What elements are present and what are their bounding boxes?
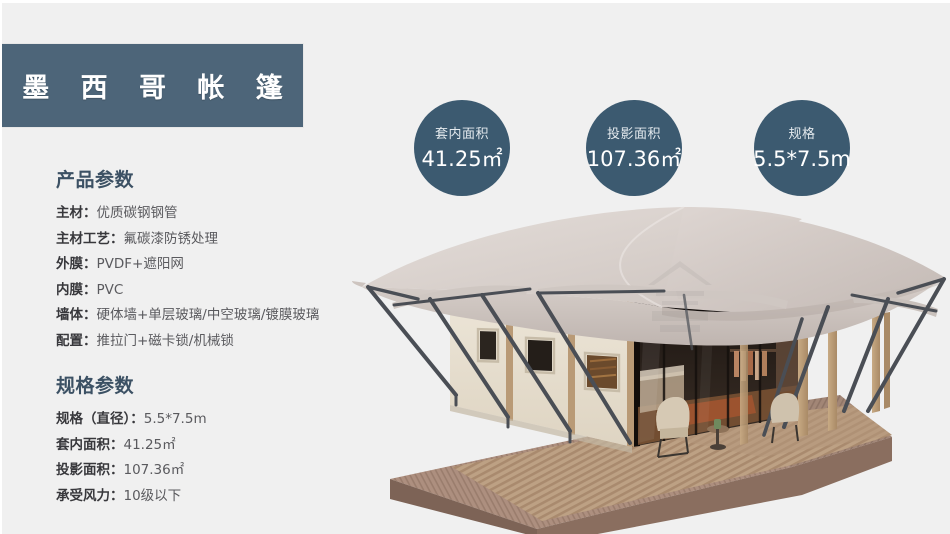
spec-parameters-block: 规格参数 规格（直径）：5.5*7.5m 套内面积：41.25㎡ 投影面积：10… xyxy=(56,371,356,509)
badge-value: 5.5*7.5m xyxy=(753,146,851,172)
spec-value: 氟碳漆防锈处理 xyxy=(124,231,219,247)
spec-label: 内膜： xyxy=(56,282,97,298)
page-title: 墨 西 哥 帐 篷 xyxy=(11,66,294,105)
product-parameters-heading: 产品参数 xyxy=(56,165,356,192)
spec-row: 内膜：PVC xyxy=(56,278,356,304)
badge-unit: ㎡ xyxy=(482,147,503,171)
product-parameters-block: 产品参数 主材：优质碳钢钢管 主材工艺：氟碳漆防锈处理 外膜：PVDF+遮阳网 … xyxy=(56,165,356,354)
spec-row: 墙体：硬体墙+单层玻璃/中空玻璃/镀膜玻璃 xyxy=(56,303,356,329)
spec-value: 推拉门+磁卡锁/机械锁 xyxy=(97,333,234,349)
spec-label: 主材： xyxy=(56,205,97,221)
product-parameters-list: 主材：优质碳钢钢管 主材工艺：氟碳漆防锈处理 外膜：PVDF+遮阳网 内膜：PV… xyxy=(56,201,356,354)
stat-badge-interior-area: 套内面积 41.25㎡ xyxy=(414,100,510,196)
spec-label: 承受风力： xyxy=(56,488,124,504)
spec-column: 产品参数 主材：优质碳钢钢管 主材工艺：氟碳漆防锈处理 外膜：PVDF+遮阳网 … xyxy=(56,165,356,509)
badge-value: 41.25㎡ xyxy=(421,146,502,172)
spec-value: 硬体墙+单层玻璃/中空玻璃/镀膜玻璃 xyxy=(97,307,320,323)
tent-render-image xyxy=(332,199,950,534)
badge-label: 投影面积 xyxy=(607,127,661,143)
spec-row: 配置：推拉门+磁卡锁/机械锁 xyxy=(56,329,356,355)
stat-badge-projected-area: 投影面积 107.36㎡ xyxy=(586,100,682,196)
spec-row: 规格（直径）：5.5*7.5m xyxy=(56,407,356,433)
spec-label: 外膜： xyxy=(56,256,97,272)
spec-parameters-heading: 规格参数 xyxy=(56,371,356,398)
spec-value: PVDF+遮阳网 xyxy=(97,256,184,272)
spec-row: 投影面积：107.36㎡ xyxy=(56,458,356,484)
badge-label: 规格 xyxy=(788,127,815,143)
badge-number: 107.36 xyxy=(587,147,660,171)
stat-badge-size: 规格 5.5*7.5m xyxy=(754,100,850,196)
badge-number: 5.5*7.5m xyxy=(753,147,851,171)
spec-value: 107.36㎡ xyxy=(124,462,185,478)
spec-parameters-list: 规格（直径）：5.5*7.5m 套内面积：41.25㎡ 投影面积：107.36㎡… xyxy=(56,407,356,509)
spec-value: 10级以下 xyxy=(124,488,182,504)
spec-label: 墙体： xyxy=(56,307,97,323)
spec-row: 套内面积：41.25㎡ xyxy=(56,433,356,459)
spec-value: 41.25㎡ xyxy=(124,437,176,453)
spec-row: 主材：优质碳钢钢管 xyxy=(56,201,356,227)
badge-label: 套内面积 xyxy=(435,127,489,143)
spec-label: 配置： xyxy=(56,333,97,349)
spec-label: 投影面积： xyxy=(56,462,124,478)
badge-value: 107.36㎡ xyxy=(587,146,681,172)
spec-row: 承受风力：10级以下 xyxy=(56,484,356,510)
spec-label: 规格（直径）： xyxy=(56,411,144,427)
spec-label: 套内面积： xyxy=(56,437,124,453)
spec-value: PVC xyxy=(97,282,124,298)
badge-number: 41.25 xyxy=(421,147,481,171)
spec-value: 优质碳钢钢管 xyxy=(97,205,178,221)
badge-unit: ㎡ xyxy=(660,147,681,171)
spec-label: 主材工艺： xyxy=(56,231,124,247)
spec-value: 5.5*7.5m xyxy=(144,411,207,427)
spec-row: 主材工艺：氟碳漆防锈处理 xyxy=(56,227,356,253)
tent-roof xyxy=(352,207,944,346)
slide-canvas: 墨 西 哥 帐 篷 产品参数 主材：优质碳钢钢管 主材工艺：氟碳漆防锈处理 外膜… xyxy=(0,0,950,534)
spec-row: 外膜：PVDF+遮阳网 xyxy=(56,252,356,278)
title-banner: 墨 西 哥 帐 篷 xyxy=(2,44,303,127)
